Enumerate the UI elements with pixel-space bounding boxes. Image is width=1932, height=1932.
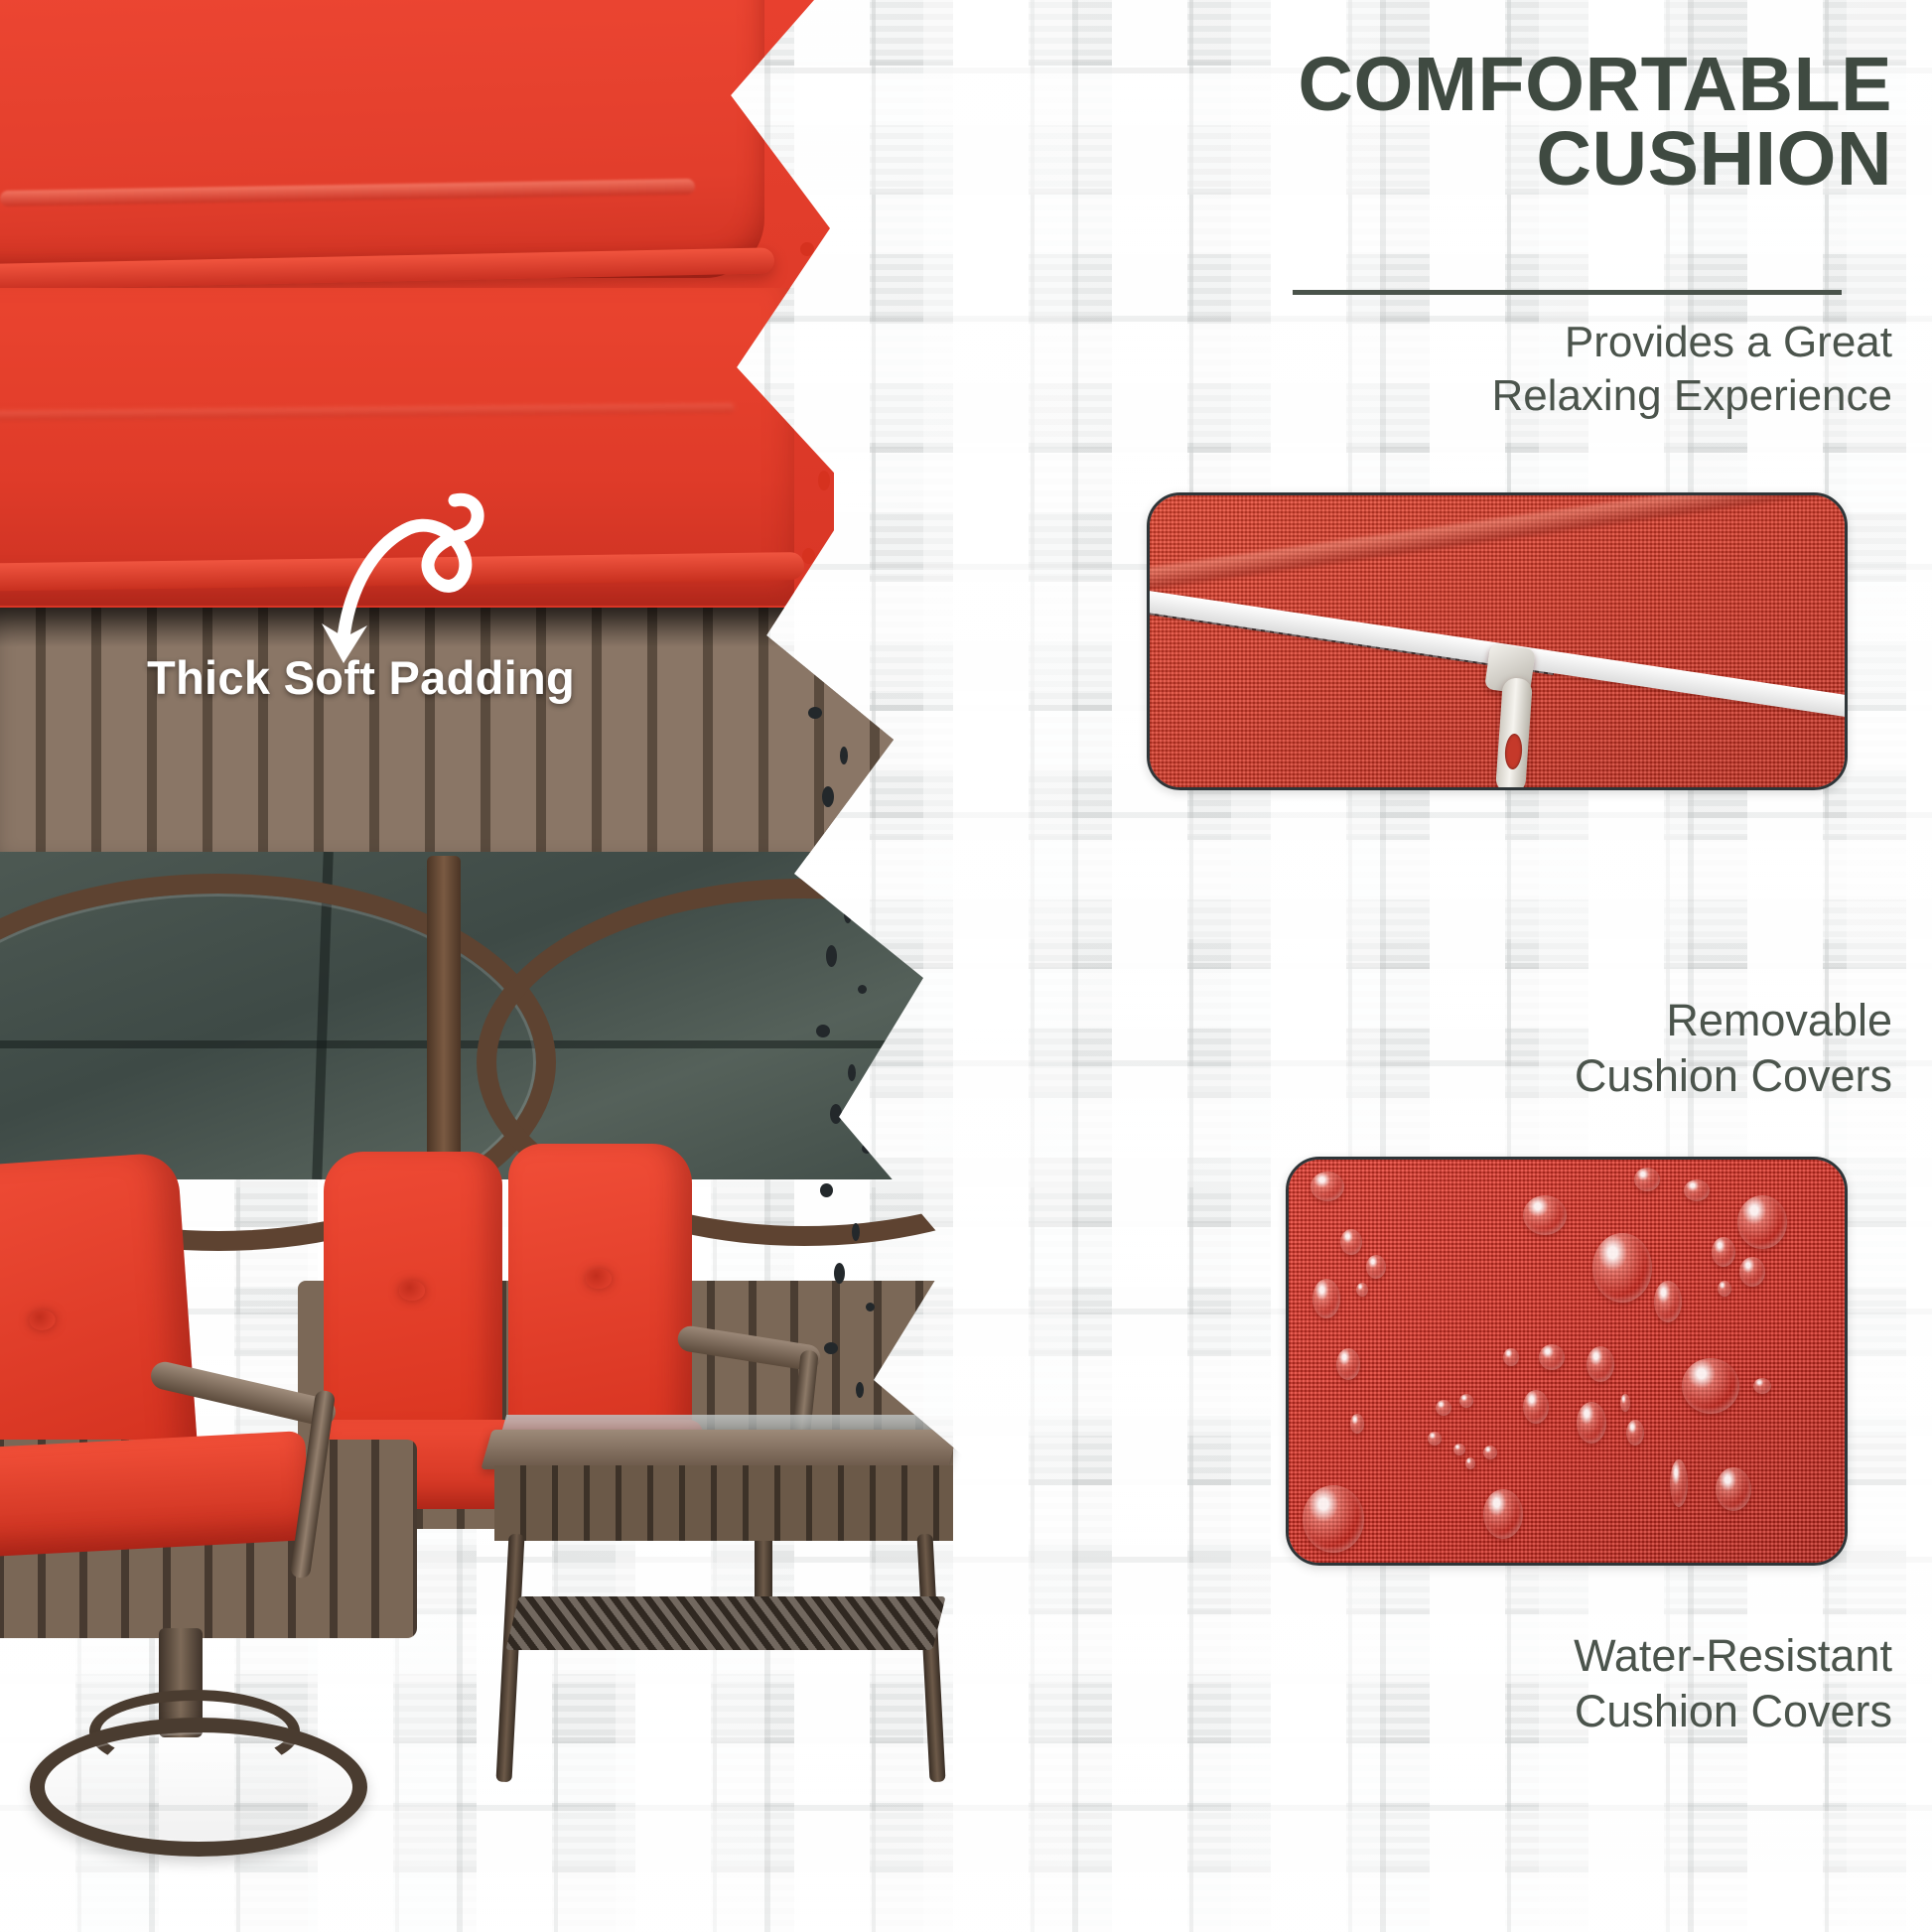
- water-droplet-icon: [1483, 1489, 1523, 1539]
- water-droplet-icon: [1523, 1390, 1549, 1424]
- water-droplet-icon: [1716, 1467, 1751, 1511]
- water-droplet-icon: [1436, 1400, 1451, 1416]
- headline-line-1: COMFORTABLE: [1013, 48, 1892, 122]
- water-droplet-icon: [1453, 1444, 1465, 1455]
- water-droplet-icon: [1592, 1233, 1652, 1303]
- water-droplet-icon: [1712, 1237, 1735, 1267]
- water-droplet-icon: [1459, 1394, 1473, 1408]
- coffee-table-leg: [916, 1534, 945, 1782]
- water-droplet-icon: [1654, 1281, 1682, 1322]
- feature-card-removable-covers: [1147, 492, 1848, 790]
- loveseat-back-cushion-right: [508, 1144, 692, 1451]
- water-droplet-icon: [1503, 1348, 1519, 1366]
- swivel-chair-ring-base: [30, 1718, 367, 1857]
- page-title: COMFORTABLE CUSHION: [1013, 48, 1892, 198]
- water-droplet-icon: [1366, 1255, 1386, 1279]
- water-droplet-icon: [1682, 1358, 1739, 1414]
- subheading-line-1: Provides a Great: [1013, 316, 1892, 369]
- water-droplet-icon: [1340, 1229, 1362, 1255]
- subheading-line-2: Relaxing Experience: [1013, 369, 1892, 423]
- title-divider: [1293, 290, 1842, 295]
- water-droplet-icon: [1718, 1281, 1731, 1297]
- water-droplet-icon: [1483, 1446, 1497, 1459]
- coffee-table-lower-shelf: [505, 1596, 945, 1650]
- coffee-table-leg: [495, 1534, 524, 1782]
- water-droplet-icon: [1428, 1432, 1442, 1446]
- water-droplet-icon: [1684, 1179, 1710, 1201]
- water-droplet-icon: [1336, 1348, 1360, 1380]
- swivel-chair-seat-cushion: [0, 1431, 311, 1562]
- water-droplet-icon: [1587, 1346, 1614, 1382]
- water-droplet-icon: [1465, 1457, 1475, 1469]
- caption-line-1: Water-Resistant: [1013, 1628, 1892, 1684]
- water-droplet-icon: [1626, 1420, 1644, 1446]
- water-droplet-icon: [1634, 1168, 1660, 1191]
- water-droplet-icon: [1350, 1414, 1364, 1434]
- loveseat-back-cushion-left: [324, 1152, 502, 1449]
- subheading: Provides a Great Relaxing Experience: [1013, 316, 1892, 422]
- coffee-table-frame-top: [481, 1430, 958, 1469]
- cushion-tuft-button: [399, 1281, 425, 1301]
- water-droplet-icon: [1739, 1257, 1765, 1287]
- caption-line-1: Removable: [1013, 993, 1892, 1048]
- water-droplet-icon: [1523, 1195, 1567, 1235]
- headline-line-2: CUSHION: [1013, 122, 1892, 197]
- water-droplet-icon: [1670, 1459, 1688, 1507]
- water-droplet-icon: [1356, 1283, 1368, 1297]
- coffee-table-wicker-apron: [494, 1465, 953, 1541]
- water-droplet-icon: [1737, 1195, 1787, 1249]
- water-droplet-icon: [1312, 1279, 1340, 1318]
- cushion-backrest: [0, 0, 764, 278]
- thick-soft-padding-label: Thick Soft Padding: [147, 650, 575, 705]
- water-droplet-icon: [1311, 1172, 1344, 1201]
- curly-arrow-down-icon: [288, 479, 496, 677]
- caption-line-2: Cushion Covers: [1013, 1684, 1892, 1739]
- product-feature-graphic: Thick Soft Padding: [0, 0, 1932, 1932]
- feature-caption-water-resistant: Water-Resistant Cushion Covers: [1013, 1628, 1892, 1740]
- water-droplet-icon: [1577, 1402, 1606, 1444]
- feature-caption-removable-covers: Removable Cushion Covers: [1013, 993, 1892, 1105]
- feature-card-water-resistant: [1286, 1157, 1848, 1566]
- water-droplet-icon: [1303, 1485, 1364, 1553]
- water-droplet-icon: [1753, 1378, 1771, 1394]
- table-center-post: [427, 856, 461, 1183]
- cushion-tuft-button: [586, 1269, 612, 1289]
- water-droplet-icon: [1539, 1344, 1565, 1370]
- caption-line-2: Cushion Covers: [1013, 1048, 1892, 1104]
- water-droplet-icon: [1620, 1394, 1630, 1412]
- cushion-tuft-button: [29, 1310, 56, 1331]
